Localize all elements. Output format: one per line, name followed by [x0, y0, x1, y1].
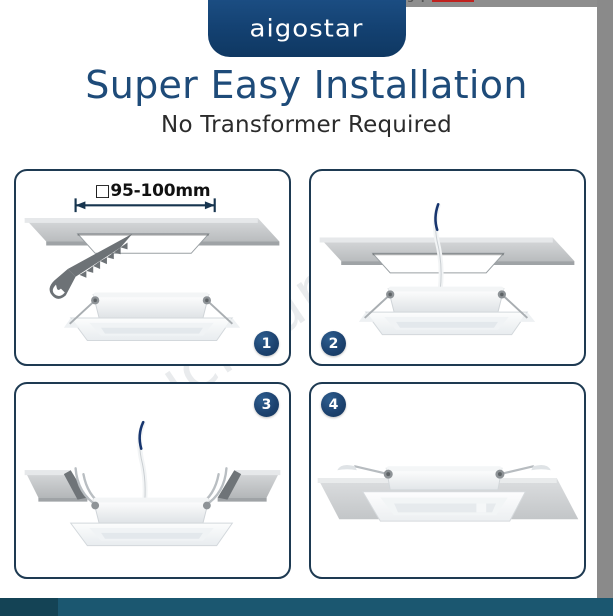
step-panel-3: 3: [14, 382, 291, 579]
step-badge-3: 3: [254, 392, 279, 417]
brand-logo-text: aigostar: [250, 15, 364, 43]
bottom-teal-bar: [0, 598, 613, 616]
step-4-illustration: [311, 384, 584, 577]
step-3-illustration: [16, 384, 289, 577]
step-panel-2: 2: [309, 169, 586, 366]
installation-steps-grid: □95-100mm: [14, 169, 586, 584]
step-badge-2: 2: [321, 331, 346, 356]
step-panel-4: 4: [309, 382, 586, 579]
cutout-dimension-label: □95-100mm: [16, 181, 289, 201]
step-panel-1: □95-100mm: [14, 169, 291, 366]
step-badge-4: 4: [321, 392, 346, 417]
page-subtitle: No Transformer Required: [0, 114, 613, 137]
brand-logo-badge: aigostar: [208, 0, 406, 57]
bottom-teal-bar-right-segment: [597, 598, 613, 616]
red-cert-block-icon: [432, 0, 474, 2]
bottom-teal-bar-dark-segment: [0, 598, 58, 616]
product-infographic-page: CE 0744 VDE-geprüft aigostar Super Easy …: [0, 0, 613, 616]
step-2-illustration: [311, 171, 584, 364]
page-title: Super Easy Installation: [0, 66, 613, 104]
step-badge-1: 1: [254, 331, 279, 356]
